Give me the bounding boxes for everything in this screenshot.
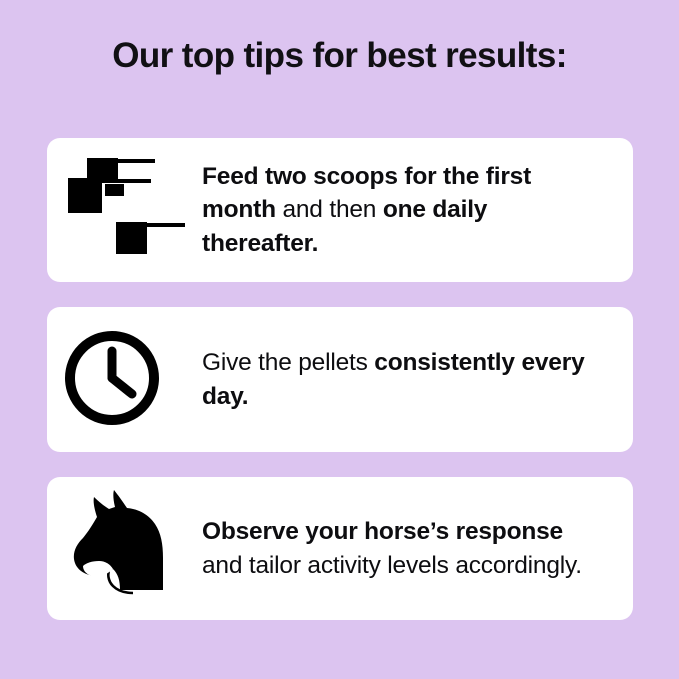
tip-text-bold-1: consistently bbox=[374, 349, 515, 376]
tip-text-bold-3: one daily bbox=[383, 196, 487, 223]
tip-text-consistency: Give the pellets consistently every day. bbox=[202, 346, 633, 413]
page-title: Our top tips for best results: bbox=[0, 34, 679, 78]
tip-text-regular-1: and tailor activity bbox=[202, 552, 381, 579]
tip-icon-container bbox=[47, 477, 202, 620]
tip-icon-container bbox=[47, 138, 202, 282]
tip-text-regular-1: and then bbox=[276, 196, 383, 223]
clock-icon bbox=[62, 328, 167, 428]
horse-head-icon bbox=[63, 488, 178, 600]
tip-text-bold-2: response bbox=[456, 518, 563, 545]
measuring-scoops-icon bbox=[68, 158, 184, 262]
tip-text-regular-1: Give the pellets bbox=[202, 349, 374, 376]
tip-text-bold-4: thereafter. bbox=[202, 230, 318, 257]
scoop-cup bbox=[105, 184, 124, 196]
tip-text-bold-1: Observe your horse’s bbox=[202, 518, 449, 545]
tips-list: Feed two scoops for the first month and … bbox=[47, 138, 633, 620]
tip-text-feeding: Feed two scoops for the first month and … bbox=[202, 160, 633, 261]
tip-icon-container bbox=[47, 307, 202, 452]
scoop-cup bbox=[87, 158, 118, 180]
tip-card-feeding: Feed two scoops for the first month and … bbox=[47, 138, 633, 282]
scoop-cup bbox=[116, 222, 147, 254]
tip-text-observation: Observe your horse’s response and tailor… bbox=[202, 515, 633, 582]
scoop-handle bbox=[102, 179, 151, 183]
scoop-cup bbox=[68, 178, 102, 213]
tip-text-regular-2: levels accordingly. bbox=[387, 552, 582, 579]
tip-text-bold-1: Feed two scoops for the first bbox=[202, 163, 531, 190]
tips-infographic: Our top tips for best results: bbox=[0, 0, 679, 679]
scoop-handle bbox=[118, 159, 155, 163]
scoop-handle bbox=[147, 223, 185, 227]
tip-card-observation: Observe your horse’s response and tailor… bbox=[47, 477, 633, 620]
tip-text-bold-2: month bbox=[202, 196, 276, 223]
tip-card-consistency: Give the pellets consistently every day. bbox=[47, 307, 633, 452]
